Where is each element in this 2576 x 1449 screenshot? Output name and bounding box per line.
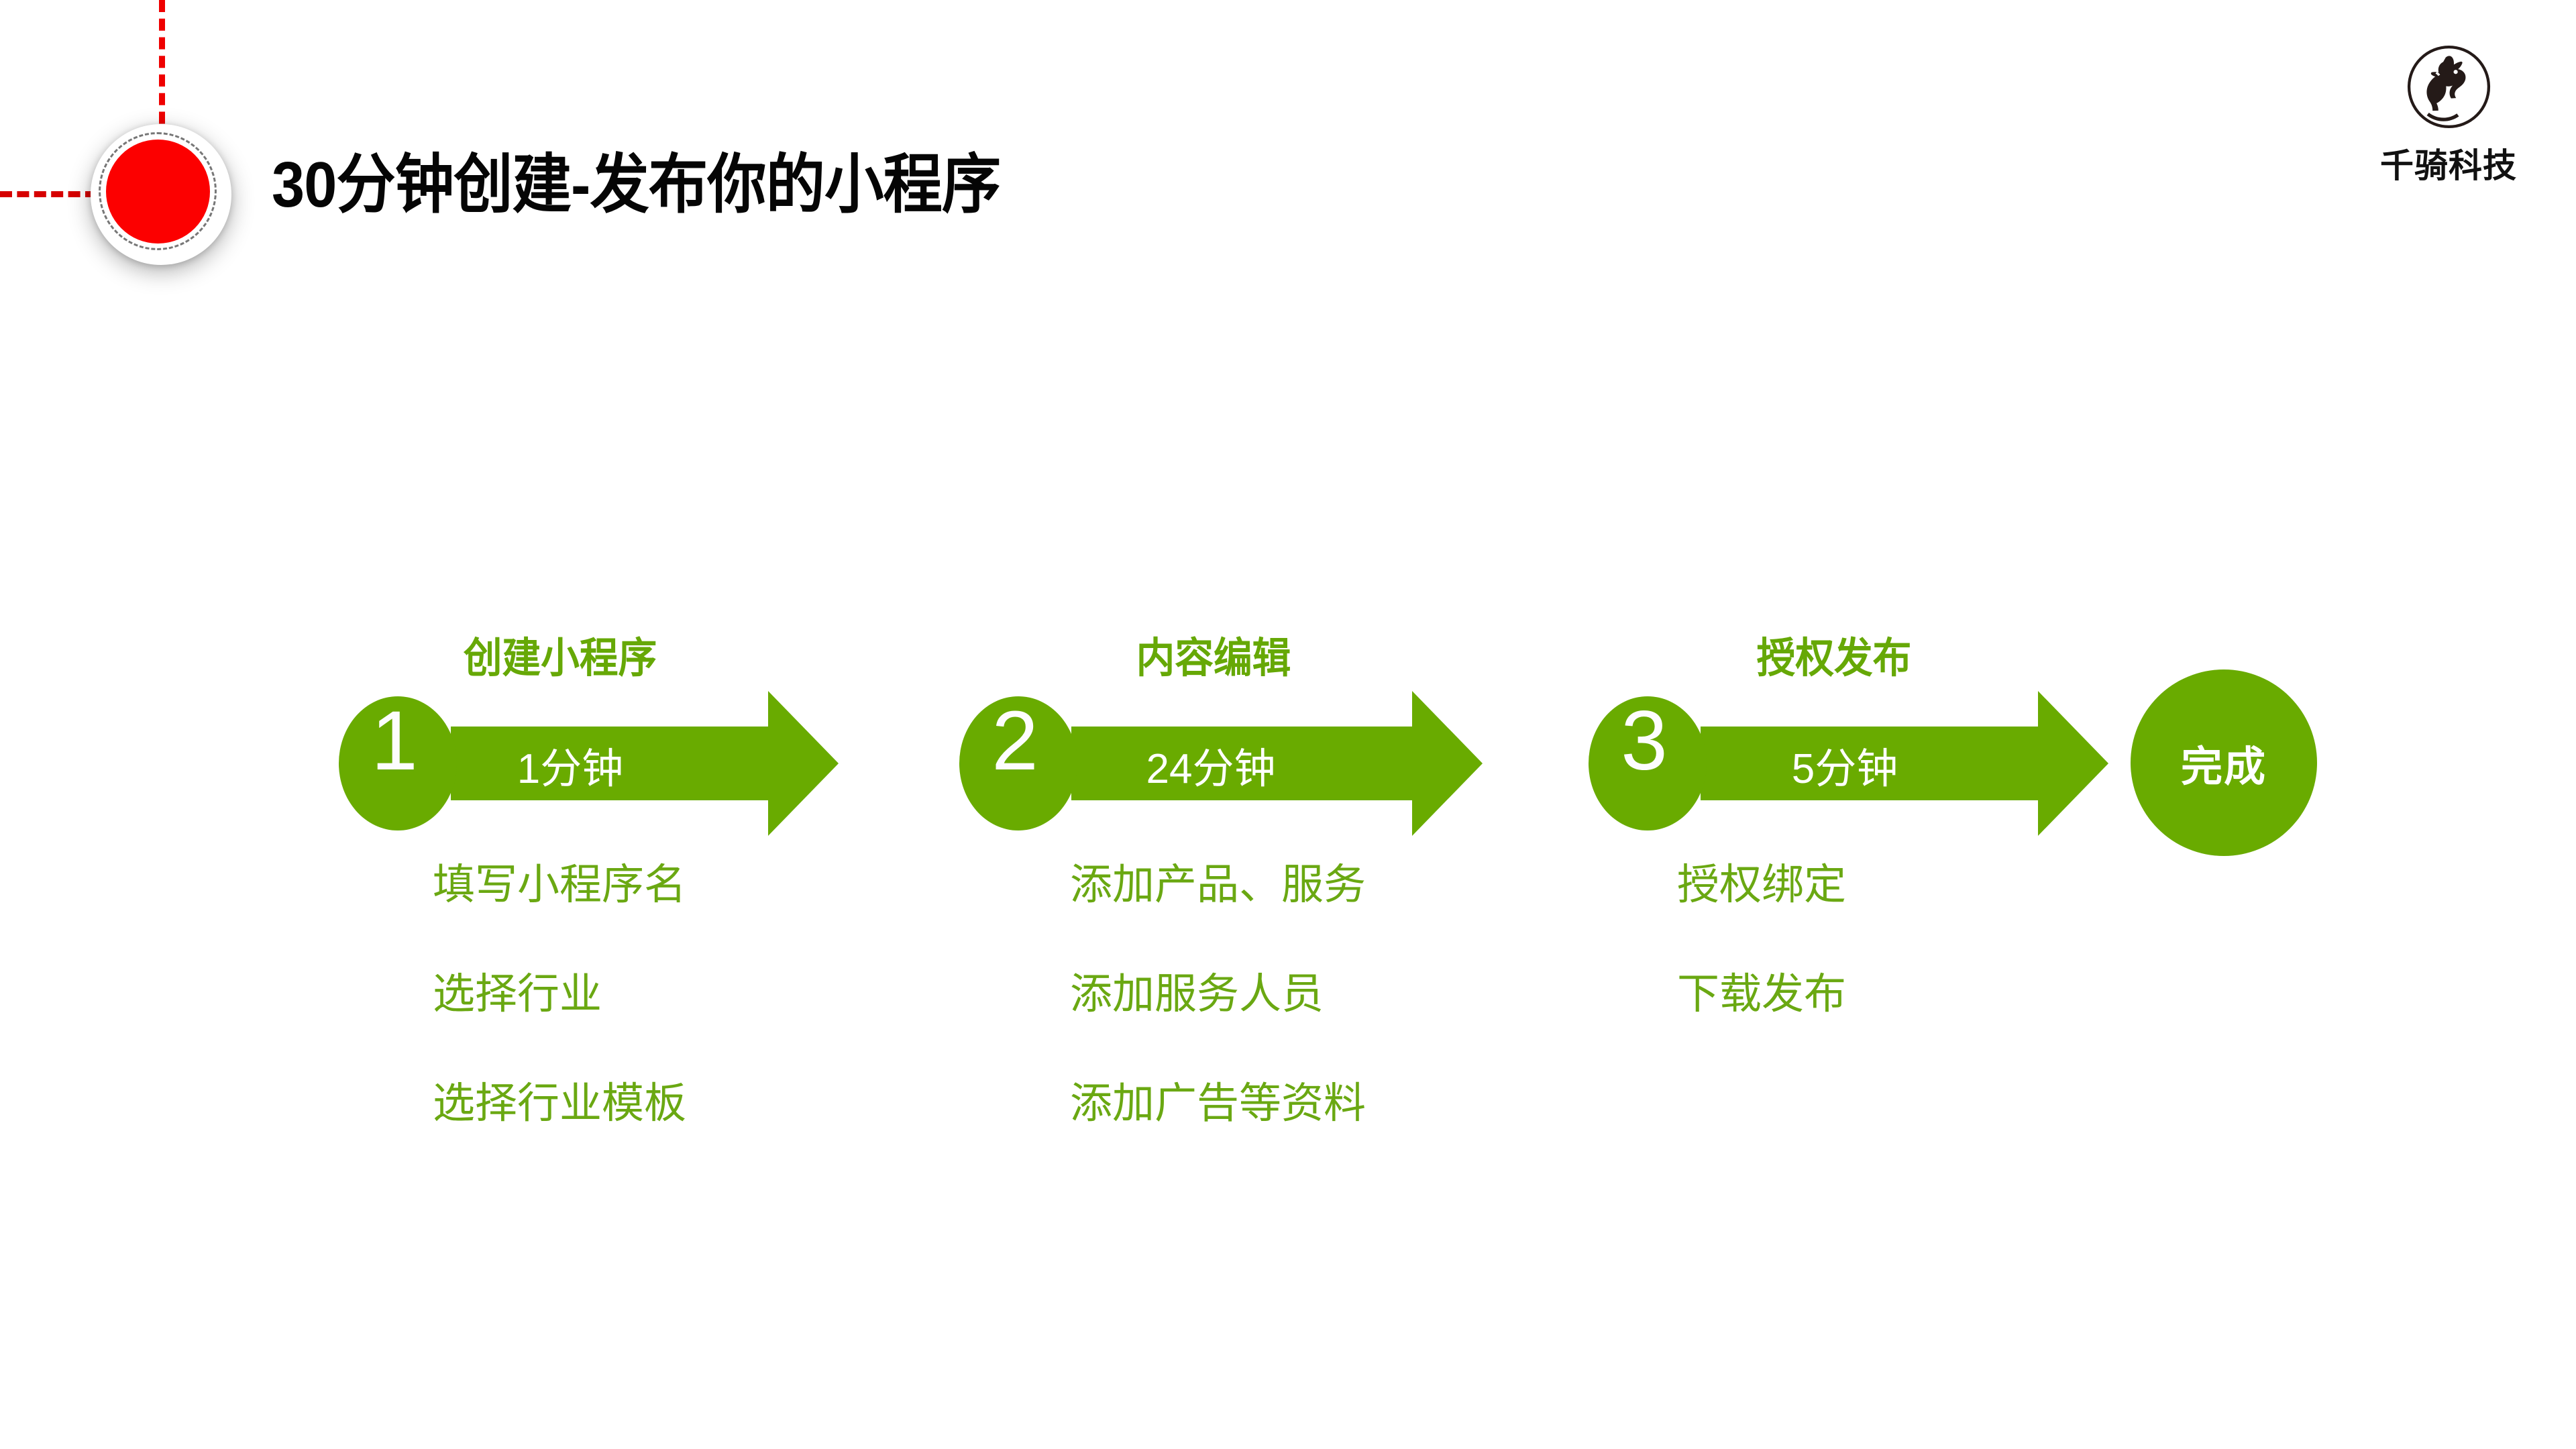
step-2-bullets: 添加产品、服务 添加服务人员 添加广告等资料 xyxy=(1070,864,1366,1192)
list-item: 下载发布 xyxy=(1677,973,1846,1016)
process-flow: 创建小程序 1 1分钟 填写小程序名 选择行业 选择行业模板 内容编辑 2 24… xyxy=(0,0,2576,1449)
list-item: 填写小程序名 xyxy=(433,864,686,906)
list-item: 选择行业模板 xyxy=(433,1083,686,1125)
step-3-title: 授权发布 xyxy=(1757,624,1912,684)
step-1-title: 创建小程序 xyxy=(464,624,657,684)
step-2-duration: 24分钟 xyxy=(1100,735,1322,795)
finish-node: 完成 xyxy=(2131,669,2317,856)
list-item: 选择行业 xyxy=(433,973,686,1016)
list-item: 添加服务人员 xyxy=(1070,973,1366,1016)
step-1-bullets: 填写小程序名 选择行业 选择行业模板 xyxy=(433,864,686,1192)
list-item: 授权绑定 xyxy=(1677,864,1846,906)
step-1-number: 1 xyxy=(358,699,431,783)
step-2-number: 2 xyxy=(978,699,1052,783)
step-3-bullets: 授权绑定 下载发布 xyxy=(1677,864,1846,1083)
step-2-title: 内容编辑 xyxy=(1136,624,1291,684)
list-item: 添加广告等资料 xyxy=(1070,1083,1366,1125)
finish-label: 完成 xyxy=(2131,733,2317,793)
step-3-duration: 5分钟 xyxy=(1744,735,1945,795)
list-item: 添加产品、服务 xyxy=(1070,864,1366,906)
step-1-duration: 1分钟 xyxy=(470,735,671,795)
step-3-number: 3 xyxy=(1607,699,1681,783)
